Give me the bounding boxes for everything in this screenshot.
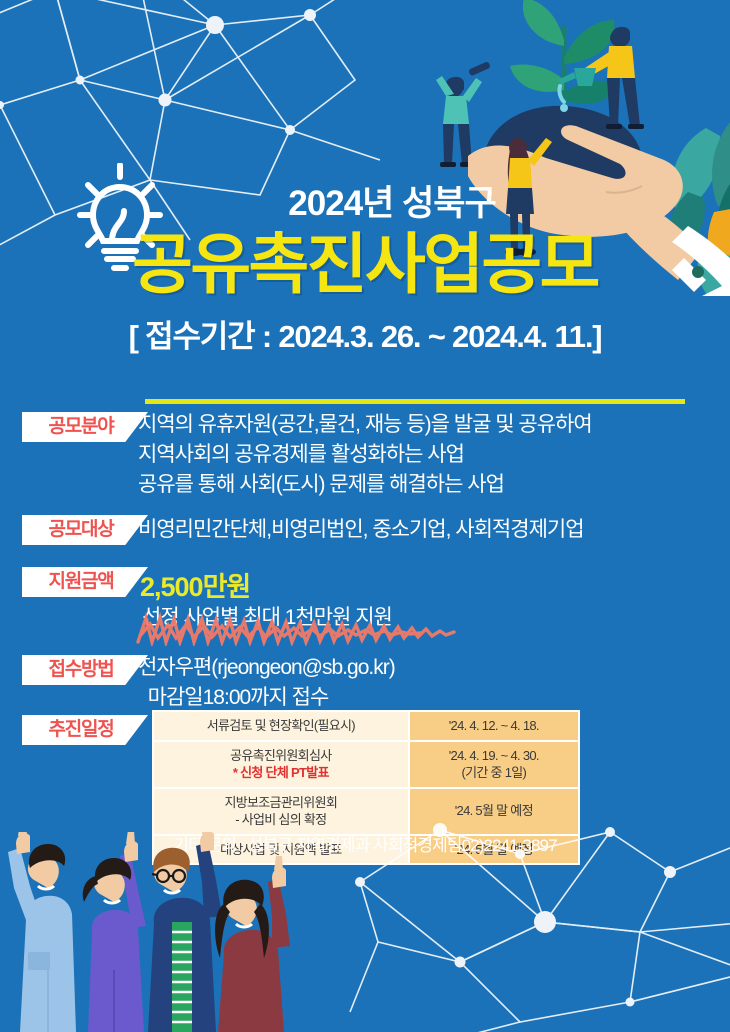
schedule-task-cell: 서류검토 및 현장확인(필요시)	[153, 711, 409, 741]
person-maroon	[215, 856, 290, 1032]
table-row: 공유촉진위원회심사* 신청 단체 PT발표'24. 4. 19. ~ 4. 30…	[153, 741, 579, 788]
amount-value: 2,500만원	[140, 565, 250, 604]
schedule-date-cell: '24. 4. 19. ~ 4. 30. (기간 중 1일)	[409, 741, 579, 788]
tag-target: 공모대상	[22, 515, 148, 545]
tag-method: 접수방법	[22, 655, 148, 685]
poster-headline: 2024년 성북구 공유촉진사업공모 [ 접수기간 : 2024.3. 26. …	[0, 186, 730, 356]
target-text: 비영리민간단체,비영리법인, 중소기업, 사회적경제기업	[138, 515, 584, 545]
schedule-date-cell: '24. 4. 12. ~ 4. 18.	[409, 711, 579, 741]
kicker-text: 2024년 성북구	[54, 186, 730, 221]
person-purple	[83, 832, 146, 1032]
method-text: 전자우편(rjeongeon@sb.go.kr) 마감일18:00까지 접수	[138, 653, 395, 713]
divider-rule	[145, 399, 685, 404]
schedule-task-cell: 공유촉진위원회심사* 신청 단체 PT발표	[153, 741, 409, 788]
people-pointing-up-illustration	[0, 832, 466, 1032]
schedule-task-note: * 신청 단체 PT발표	[158, 764, 404, 782]
page-title: 공유촉진사업공모	[0, 230, 730, 300]
application-period: [ 접수기간 : 2024.3. 26. ~ 2024.4. 11.]	[0, 311, 730, 356]
table-row: 지방보조금관리위원회 - 사업비 심의 확정'24. 5월 말 예정	[153, 788, 579, 835]
schedule-date-cell: '24. 5월 말 예정	[409, 788, 579, 835]
schedule-task-cell: 지방보조금관리위원회 - 사업비 심의 확정	[153, 788, 409, 835]
person-lightblue	[8, 832, 76, 1032]
tag-schedule: 추진일정	[22, 715, 148, 745]
poster-canvas: 2024년 성북구 공유촉진사업공모 [ 접수기간 : 2024.3. 26. …	[0, 0, 730, 1032]
field-text: 지역의 유휴자원(공간,물건, 재능 등)을 발굴 및 공유하여 지역사회의 공…	[138, 410, 592, 499]
tag-field: 공모분야	[22, 412, 148, 442]
table-row: 서류검토 및 현장확인(필요시)'24. 4. 12. ~ 4. 18.	[153, 711, 579, 741]
tag-amount: 지원금액	[22, 567, 148, 597]
scribble-underline-icon	[136, 612, 456, 646]
person-navy	[148, 832, 222, 1032]
